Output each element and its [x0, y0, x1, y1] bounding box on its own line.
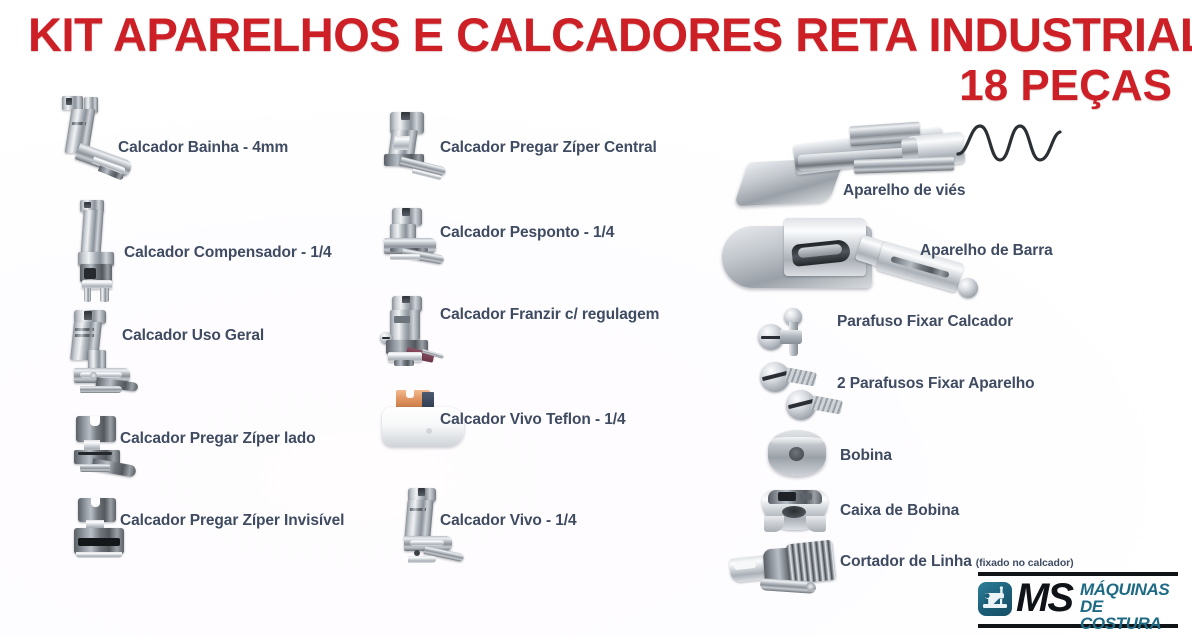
item-label: Calcador Pregar Zíper Invisível [120, 512, 344, 530]
item-label: Calcador Uso Geral [122, 327, 264, 345]
item-label: Calcador Vivo Teflon - 1/4 [440, 411, 625, 429]
item-label: Calcador Pesponto - 1/4 [440, 224, 614, 242]
presser-foot-general-icon [66, 310, 156, 410]
bobbin-case-icon [758, 486, 838, 540]
presser-foot-piping-teflon-icon [382, 390, 474, 470]
brand-logo: MS MÁQUINAS DE COSTURA [972, 572, 1178, 628]
item-label: Calcador Pregar Zíper lado [120, 430, 316, 448]
screw-single-icon [756, 306, 846, 358]
item-label: Aparelho de viés [843, 182, 965, 200]
piece-count-badge: 18 PEÇAS [959, 62, 1172, 110]
logo-word-line2: DE COSTURA [1080, 598, 1178, 632]
item-label: Caixa de Bobina [840, 502, 959, 520]
logo-initials: MS [1016, 577, 1072, 619]
item-label-text: Cortador de Linha [840, 553, 972, 570]
product-infographic: KIT APARELHOS E CALCADORES RETA INDUSTRI… [0, 0, 1192, 636]
hemmer-attachment-icon [722, 216, 1012, 316]
logo-top-rule [978, 572, 1178, 576]
logo-word-line1: MÁQUINAS [1080, 581, 1178, 598]
presser-foot-piping-icon [402, 488, 482, 580]
sewing-machine-icon [978, 582, 1012, 616]
bobbin-icon [768, 430, 832, 480]
item-label: Calcador Compensador - 1/4 [124, 244, 332, 262]
page-title: KIT APARELHOS E CALCADORES RETA INDUSTRI… [28, 8, 1180, 62]
item-label: Calcador Franzir c/ regulagem [440, 306, 659, 324]
presser-foot-topstitch-icon [382, 208, 464, 286]
item-label: 2 Parafusos Fixar Aparelho [837, 375, 1035, 393]
item-label: Aparelho de Barra [920, 242, 1053, 260]
item-label-note: (fixado no calcador) [976, 557, 1074, 569]
item-label: Bobina [840, 447, 892, 465]
item-label: Calcador Pregar Zíper Central [440, 139, 657, 157]
item-label: Cortador de Linha(fixado no calcador) [840, 553, 1074, 572]
presser-foot-zipper-center-icon [382, 112, 464, 204]
thread-cutter-icon [730, 536, 850, 600]
item-label: Calcador Vivo - 1/4 [440, 512, 577, 530]
item-label: Parafuso Fixar Calcador [837, 313, 1013, 331]
logo-wordmark: MÁQUINAS DE COSTURA [1080, 581, 1178, 632]
item-label: Calcador Bainha - 4mm [118, 139, 288, 157]
screw-pair-icon [760, 362, 870, 428]
